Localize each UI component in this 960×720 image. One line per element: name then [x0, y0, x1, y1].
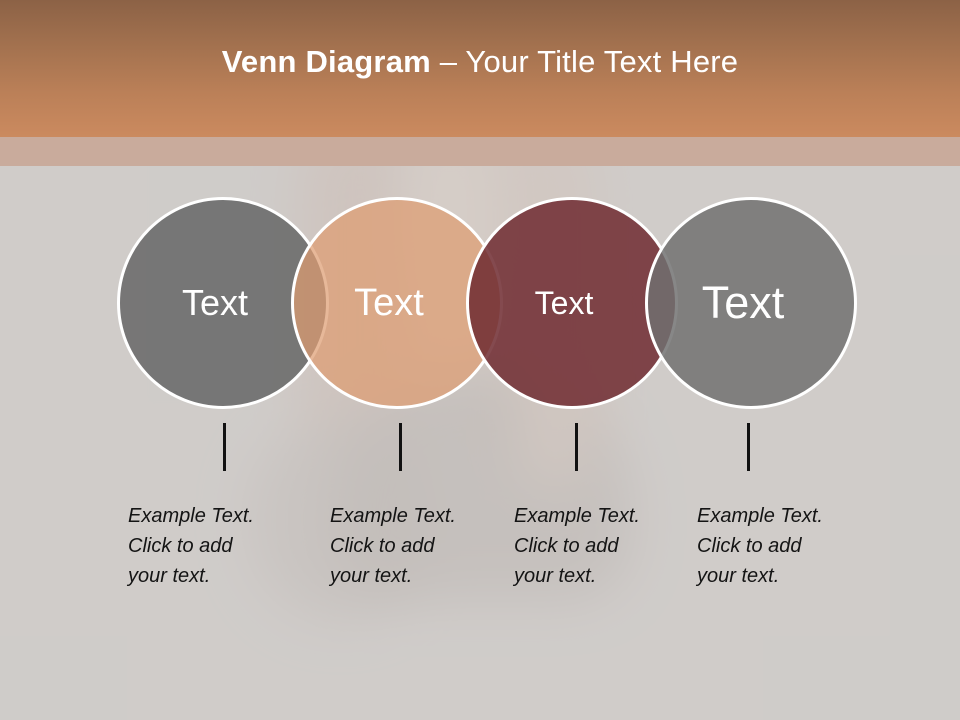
venn-circle-2-label: Text: [354, 282, 424, 325]
slide-canvas: Venn Diagram – Your Title Text Here Text…: [0, 0, 960, 720]
venn-circle-4-label: Text: [702, 277, 785, 329]
caption-2[interactable]: Example Text. Click to add your text.: [330, 501, 510, 591]
caption-4[interactable]: Example Text. Click to add your text.: [697, 501, 877, 591]
venn-diagram: Text Text Text Text Example Text. Click …: [0, 0, 960, 720]
connector-line-3: [575, 423, 578, 471]
connector-line-4: [747, 423, 750, 471]
venn-circle-1-label: Text: [182, 282, 248, 324]
caption-1[interactable]: Example Text. Click to add your text.: [128, 501, 308, 591]
connector-line-2: [399, 423, 402, 471]
caption-3[interactable]: Example Text. Click to add your text.: [514, 501, 694, 591]
connector-line-1: [223, 423, 226, 471]
venn-circle-4[interactable]: Text: [645, 197, 857, 409]
venn-circle-3-label: Text: [535, 285, 594, 322]
